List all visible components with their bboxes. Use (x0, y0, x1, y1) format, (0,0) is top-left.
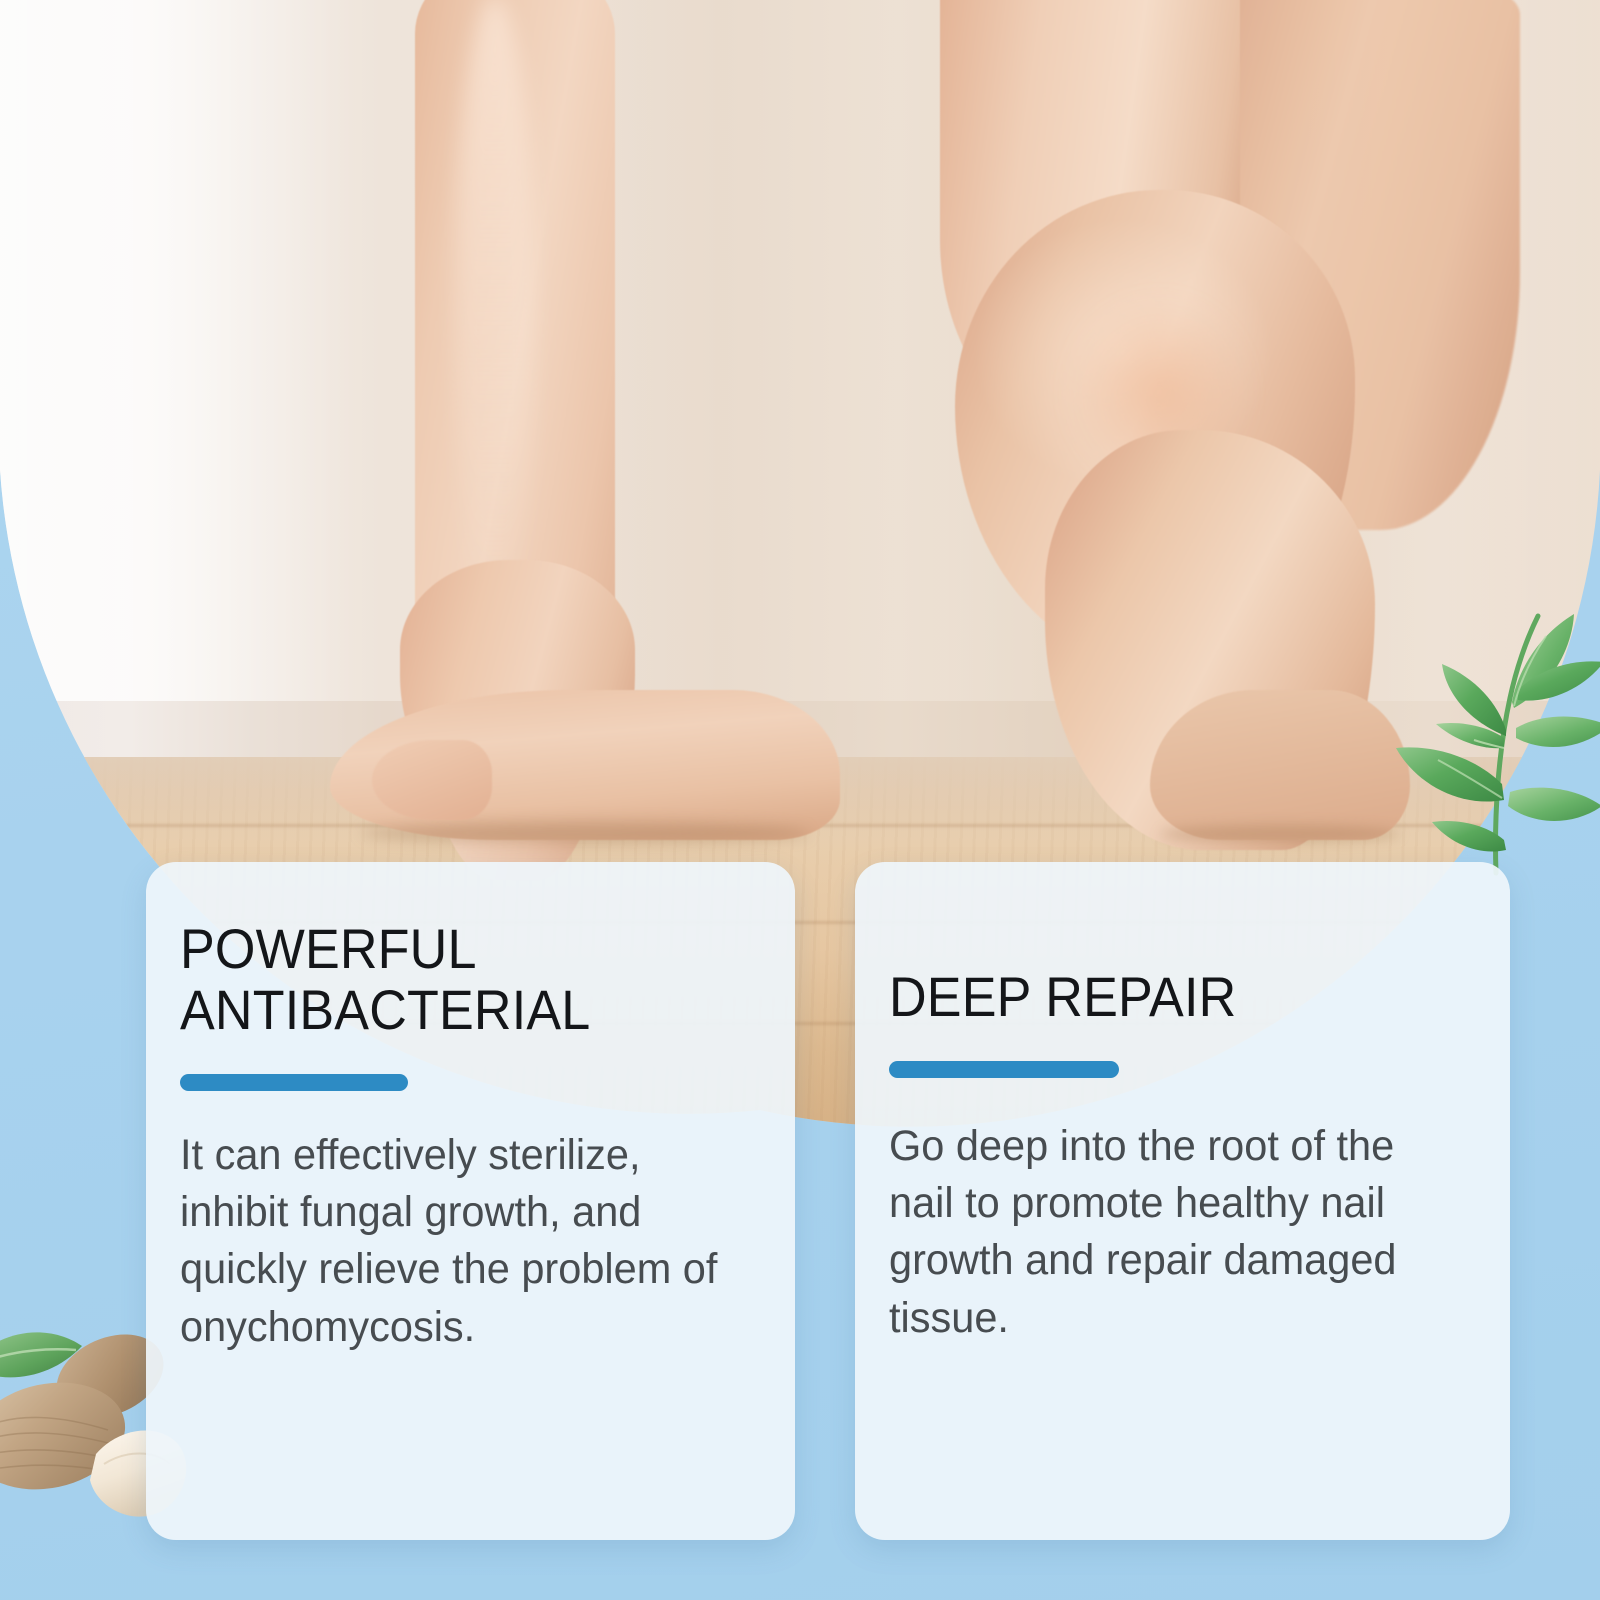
card-title: POWERFUL ANTIBACTERIAL (180, 918, 717, 1040)
card-title: DEEP REPAIR (889, 966, 1431, 1027)
left-toes (372, 740, 492, 820)
promo-banner: POWERFUL ANTIBACTERIAL It can effectivel… (0, 0, 1600, 1600)
accent-divider (180, 1074, 408, 1091)
card-body-text: Go deep into the root of the nail to pro… (889, 1118, 1452, 1347)
feature-card-deep-repair: DEEP REPAIR Go deep into the root of the… (855, 862, 1510, 1540)
feature-card-antibacterial: POWERFUL ANTIBACTERIAL It can effectivel… (146, 862, 795, 1540)
right-forefoot (1150, 690, 1410, 840)
card-body-text: It can effectively sterilize, inhibit fu… (180, 1127, 737, 1356)
accent-divider (889, 1061, 1119, 1078)
